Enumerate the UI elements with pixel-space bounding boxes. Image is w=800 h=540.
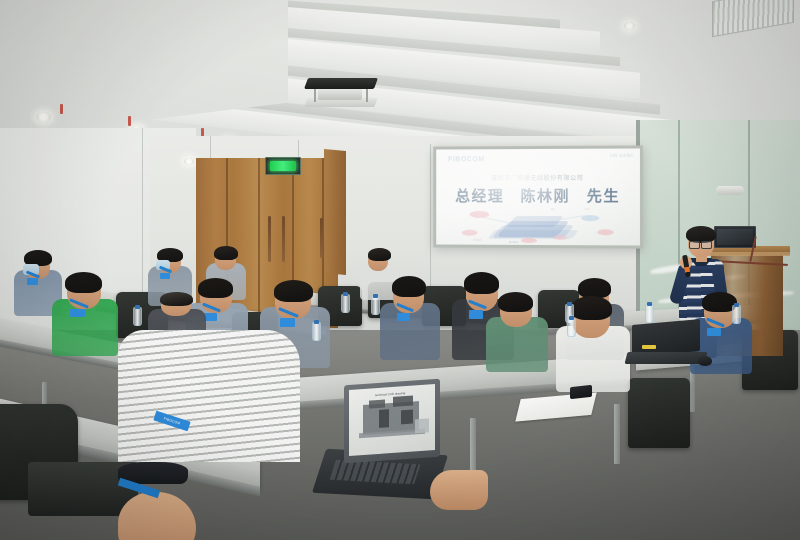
water-bottle[interactable] bbox=[133, 307, 142, 326]
foreground-attendee: FIBOCOM bbox=[118, 330, 318, 540]
computer-mouse[interactable] bbox=[698, 356, 712, 366]
bottle-cap bbox=[734, 303, 739, 307]
water-bottle[interactable] bbox=[732, 305, 741, 324]
laptop-screen: technical CAD drawing bbox=[349, 384, 435, 456]
foreground-hand bbox=[430, 470, 488, 510]
water-bottle[interactable] bbox=[341, 294, 350, 313]
bottle-cap bbox=[135, 305, 140, 309]
laptop-sticker bbox=[642, 345, 656, 349]
water-bottle[interactable] bbox=[371, 296, 380, 315]
bottle-cap bbox=[343, 292, 348, 296]
water-bottle[interactable] bbox=[567, 318, 576, 337]
foreground-laptop[interactable]: technical CAD drawing bbox=[318, 382, 448, 507]
foreground-shirt bbox=[118, 330, 300, 462]
bottle-cap bbox=[569, 316, 574, 320]
attendee-laptop[interactable] bbox=[626, 322, 704, 368]
bottle-cap bbox=[567, 302, 572, 306]
bottle-cap bbox=[373, 294, 378, 298]
bottle-cap bbox=[314, 320, 319, 324]
water-bottle[interactable] bbox=[645, 304, 654, 323]
conference-room-photo: FIBOCOM 扫码 关注我们 深圳市广和通无线股份有限公司 总经理 陈林刚 先… bbox=[0, 0, 800, 540]
phone-on-table[interactable] bbox=[570, 385, 592, 399]
bottle-cap bbox=[647, 302, 652, 306]
